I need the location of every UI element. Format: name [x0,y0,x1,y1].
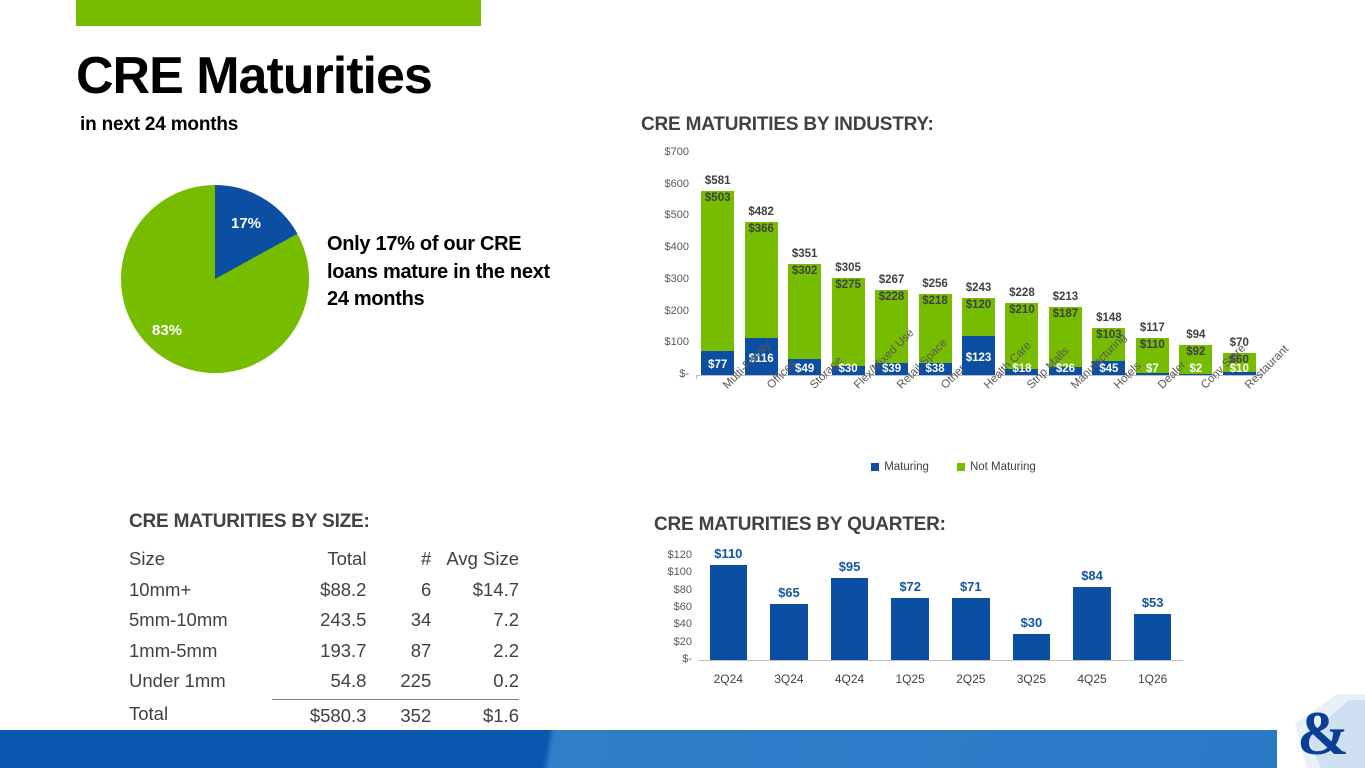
quarter-plot-area: $110$65$95$72$71$30$84$53 [698,556,1183,660]
industry-total-label: $581 [691,175,744,187]
table-cell: Size [129,546,272,577]
table-cell: 6 [366,577,431,608]
quarter-y-tick: $80 [650,584,692,596]
quarter-y-tick: $120 [650,549,692,561]
industry-maturing-label: $123 [956,352,1001,364]
quarter-bar-label: $71 [938,579,1004,594]
table-cell: 243.5 [272,607,366,638]
legend-label: Not Maturing [970,461,1036,473]
quarter-x-label: 2Q24 [698,672,759,686]
table-cell: 352 [366,699,431,733]
quarter-x-label: 1Q25 [880,672,941,686]
quarter-bar: $71 [952,598,990,660]
industry-legend: MaturingNot Maturing [641,461,1266,473]
legend-label: Maturing [884,461,929,473]
quarter-axis-line [698,660,1183,661]
quarter-x-label: 4Q25 [1062,672,1123,686]
industry-bar-not-maturing [832,278,865,365]
industry-total-label: $482 [735,206,788,218]
quarter-y-tick: $40 [650,618,692,630]
industry-not-maturing-label: $275 [826,279,871,291]
pie-callout-text: Only 17% of our CRE loans mature in the … [327,231,557,314]
quarter-x-label: 3Q24 [759,672,820,686]
table-row: 1mm-5mm193.7872.2 [129,638,519,669]
table-header-row: SizeTotal#Avg Size [129,546,519,577]
table-cell: 54.8 [272,668,366,699]
legend-swatch-icon [871,463,879,471]
industry-chart: $581$503$77$482$366$116$351$302$49$305$2… [641,145,1266,445]
table-cell: # [366,546,431,577]
quarter-chart: $110$65$95$72$71$30$84$53 $-$20$40$60$80… [650,548,1195,693]
pie-chart: 17% 83% [121,185,309,373]
industry-y-tick: $400 [641,241,689,253]
table-cell: 0.2 [431,668,519,699]
industry-total-label: $213 [1039,291,1092,303]
industry-y-tick: $500 [641,209,689,221]
quarter-bar-label: $30 [999,615,1065,630]
industry-y-tick: $700 [641,146,689,158]
green-accent-bar [76,0,481,26]
industry-not-maturing-label: $210 [999,304,1044,316]
table-cell: Total [129,699,272,733]
ampersand-logo-icon: & [1277,690,1365,768]
table-cell: $580.3 [272,699,366,733]
industry-bar-not-maturing [701,191,734,351]
quarter-y-tick: $20 [650,636,692,648]
industry-y-tick: $100 [641,336,689,348]
industry-not-maturing-label: $366 [739,223,784,235]
industry-chart-heading: CRE MATURITIES BY INDUSTRY: [641,114,934,136]
legend-item: Not Maturing [957,461,1036,473]
table-cell: Avg Size [431,546,519,577]
legend-swatch-icon [957,463,965,471]
industry-plot-area: $581$503$77$482$366$116$351$302$49$305$2… [696,153,1261,375]
quarter-bar: $110 [710,565,748,660]
quarter-y-tick: $100 [650,566,692,578]
quarter-x-label: 2Q25 [941,672,1002,686]
industry-y-tick: $200 [641,305,689,317]
industry-not-maturing-label: $110 [1130,339,1175,351]
quarter-bar: $72 [891,598,929,660]
table-cell: 1mm-5mm [129,638,272,669]
quarter-bar-label: $72 [877,579,943,594]
quarter-bar: $84 [1073,587,1111,660]
quarter-bar: $30 [1013,634,1051,660]
industry-bar-not-maturing [788,264,821,360]
quarter-bar-label: $110 [696,546,762,561]
legend-item: Maturing [871,461,929,473]
svg-text:&: & [1297,700,1349,768]
industry-not-maturing-label: $92 [1173,346,1218,358]
industry-not-maturing-label: $228 [869,291,914,303]
table-cell: 7.2 [431,607,519,638]
pie-graphic [121,185,309,373]
industry-y-tick: $300 [641,273,689,285]
table-cell: Total [272,546,366,577]
industry-total-label: $351 [778,248,831,260]
industry-y-tick: $- [641,368,689,380]
page-subtitle: in next 24 months [80,114,238,136]
table-cell: $88.2 [272,577,366,608]
table-cell: 34 [366,607,431,638]
quarter-x-label: 4Q24 [819,672,880,686]
pie-label-not-maturing: 83% [152,322,182,339]
table-row: Under 1mm54.82250.2 [129,668,519,699]
quarter-x-label: 3Q25 [1001,672,1062,686]
quarter-bar: $95 [831,578,869,660]
page-title: CRE Maturities [76,50,432,102]
table-cell: 2.2 [431,638,519,669]
quarter-bar: $53 [1134,614,1172,660]
quarter-chart-heading: CRE MATURITIES BY QUARTER: [654,514,946,536]
footer-band [0,730,1365,768]
industry-not-maturing-label: $187 [1043,308,1088,320]
quarter-bar-label: $84 [1059,568,1125,583]
table-row: 10mm+$88.26$14.7 [129,577,519,608]
quarter-bar: $65 [770,604,808,660]
table-row: 5mm-10mm243.5347.2 [129,607,519,638]
quarter-y-tick: $- [650,653,692,665]
table-cell: $14.7 [431,577,519,608]
industry-not-maturing-label: $302 [782,265,827,277]
table-cell: $1.6 [431,699,519,733]
table-cell: 225 [366,668,431,699]
industry-x-tick [696,375,697,379]
table-total-row: Total$580.3352$1.6 [129,699,519,733]
industry-y-tick: $600 [641,178,689,190]
industry-bar-not-maturing [745,222,778,338]
industry-not-maturing-label: $120 [956,299,1001,311]
quarter-bar-label: $53 [1120,595,1186,610]
table-cell: Under 1mm [129,668,272,699]
industry-total-label: $305 [822,262,875,274]
quarter-y-tick: $60 [650,601,692,613]
quarter-bar-label: $95 [817,559,883,574]
size-table-heading: CRE MATURITIES BY SIZE: [129,511,370,533]
industry-bar: $581$503$77 [701,191,734,375]
table-cell: 87 [366,638,431,669]
industry-bar: $243$120$123 [962,298,995,375]
table-cell: 5mm-10mm [129,607,272,638]
table-cell: 10mm+ [129,577,272,608]
quarter-bar-label: $65 [756,585,822,600]
quarter-x-label: 1Q26 [1122,672,1183,686]
table-cell: 193.7 [272,638,366,669]
industry-bar: $351$302$49 [788,264,821,375]
industry-not-maturing-label: $218 [913,295,958,307]
pie-label-maturing: 17% [231,215,261,232]
size-table: SizeTotal#Avg Size10mm+$88.26$14.75mm-10… [129,546,519,733]
industry-not-maturing-label: $503 [695,192,740,204]
slide: CRE Maturities in next 24 months 17% 83%… [0,0,1365,768]
